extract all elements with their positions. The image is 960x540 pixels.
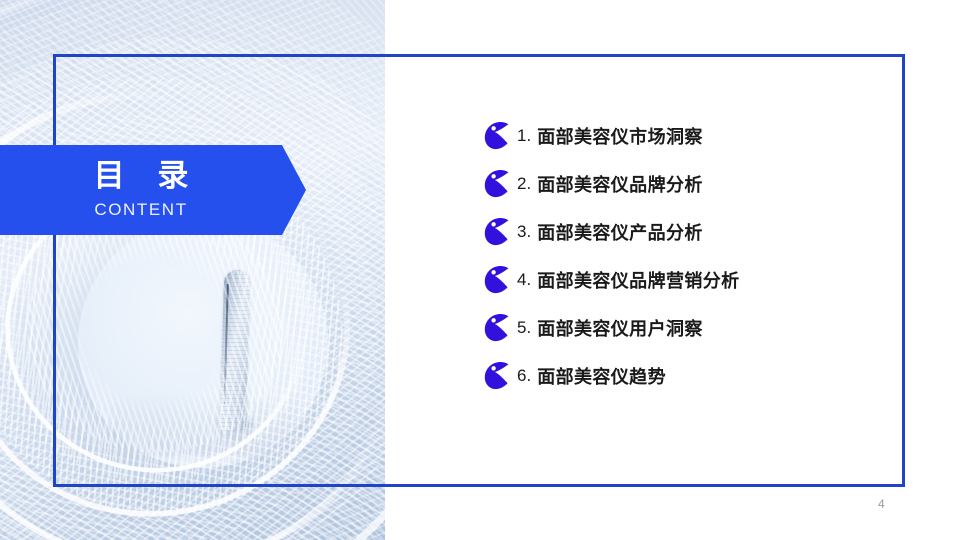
list-item-number: 2.: [517, 174, 531, 194]
list-item[interactable]: 1.面部美容仪市场洞察: [484, 112, 904, 160]
list-item-label: 面部美容仪市场洞察: [537, 123, 703, 149]
list-item-label: 面部美容仪趋势: [537, 363, 666, 389]
list-item[interactable]: 6.面部美容仪趋势: [484, 352, 904, 400]
list-item[interactable]: 3.面部美容仪产品分析: [484, 208, 904, 256]
quote-bullet-icon: [484, 122, 511, 150]
quote-bullet-icon: [484, 170, 511, 198]
page-title: 目 录: [83, 160, 200, 193]
list-item[interactable]: 4.面部美容仪品牌营销分析: [484, 256, 904, 304]
list-item[interactable]: 5.面部美容仪用户洞察: [484, 304, 904, 352]
table-of-contents: 1.面部美容仪市场洞察2.面部美容仪品牌分析3.面部美容仪产品分析4.面部美容仪…: [484, 112, 904, 400]
list-item-number: 6.: [517, 366, 531, 386]
page-number: 4: [878, 497, 885, 511]
quote-bullet-icon: [484, 218, 511, 246]
section-title-banner: 目 录 CONTENT: [0, 145, 306, 235]
quote-bullet-icon: [484, 362, 511, 390]
quote-bullet-icon: [484, 266, 511, 294]
list-item-label: 面部美容仪产品分析: [537, 219, 703, 245]
list-item[interactable]: 2.面部美容仪品牌分析: [484, 160, 904, 208]
list-item-label: 面部美容仪用户洞察: [537, 315, 703, 341]
list-item-number: 3.: [517, 222, 531, 242]
list-item-number: 1.: [517, 126, 531, 146]
list-item-label: 面部美容仪品牌分析: [537, 171, 703, 197]
list-item-label: 面部美容仪品牌营销分析: [537, 267, 739, 293]
page-subtitle: CONTENT: [94, 200, 187, 220]
quote-bullet-icon: [484, 314, 511, 342]
slide-canvas: 目 录 CONTENT 1.面部美容仪市场洞察2.面部美容仪品牌分析3.面部美容…: [0, 0, 960, 540]
list-item-number: 5.: [517, 318, 531, 338]
list-item-number: 4.: [517, 270, 531, 290]
